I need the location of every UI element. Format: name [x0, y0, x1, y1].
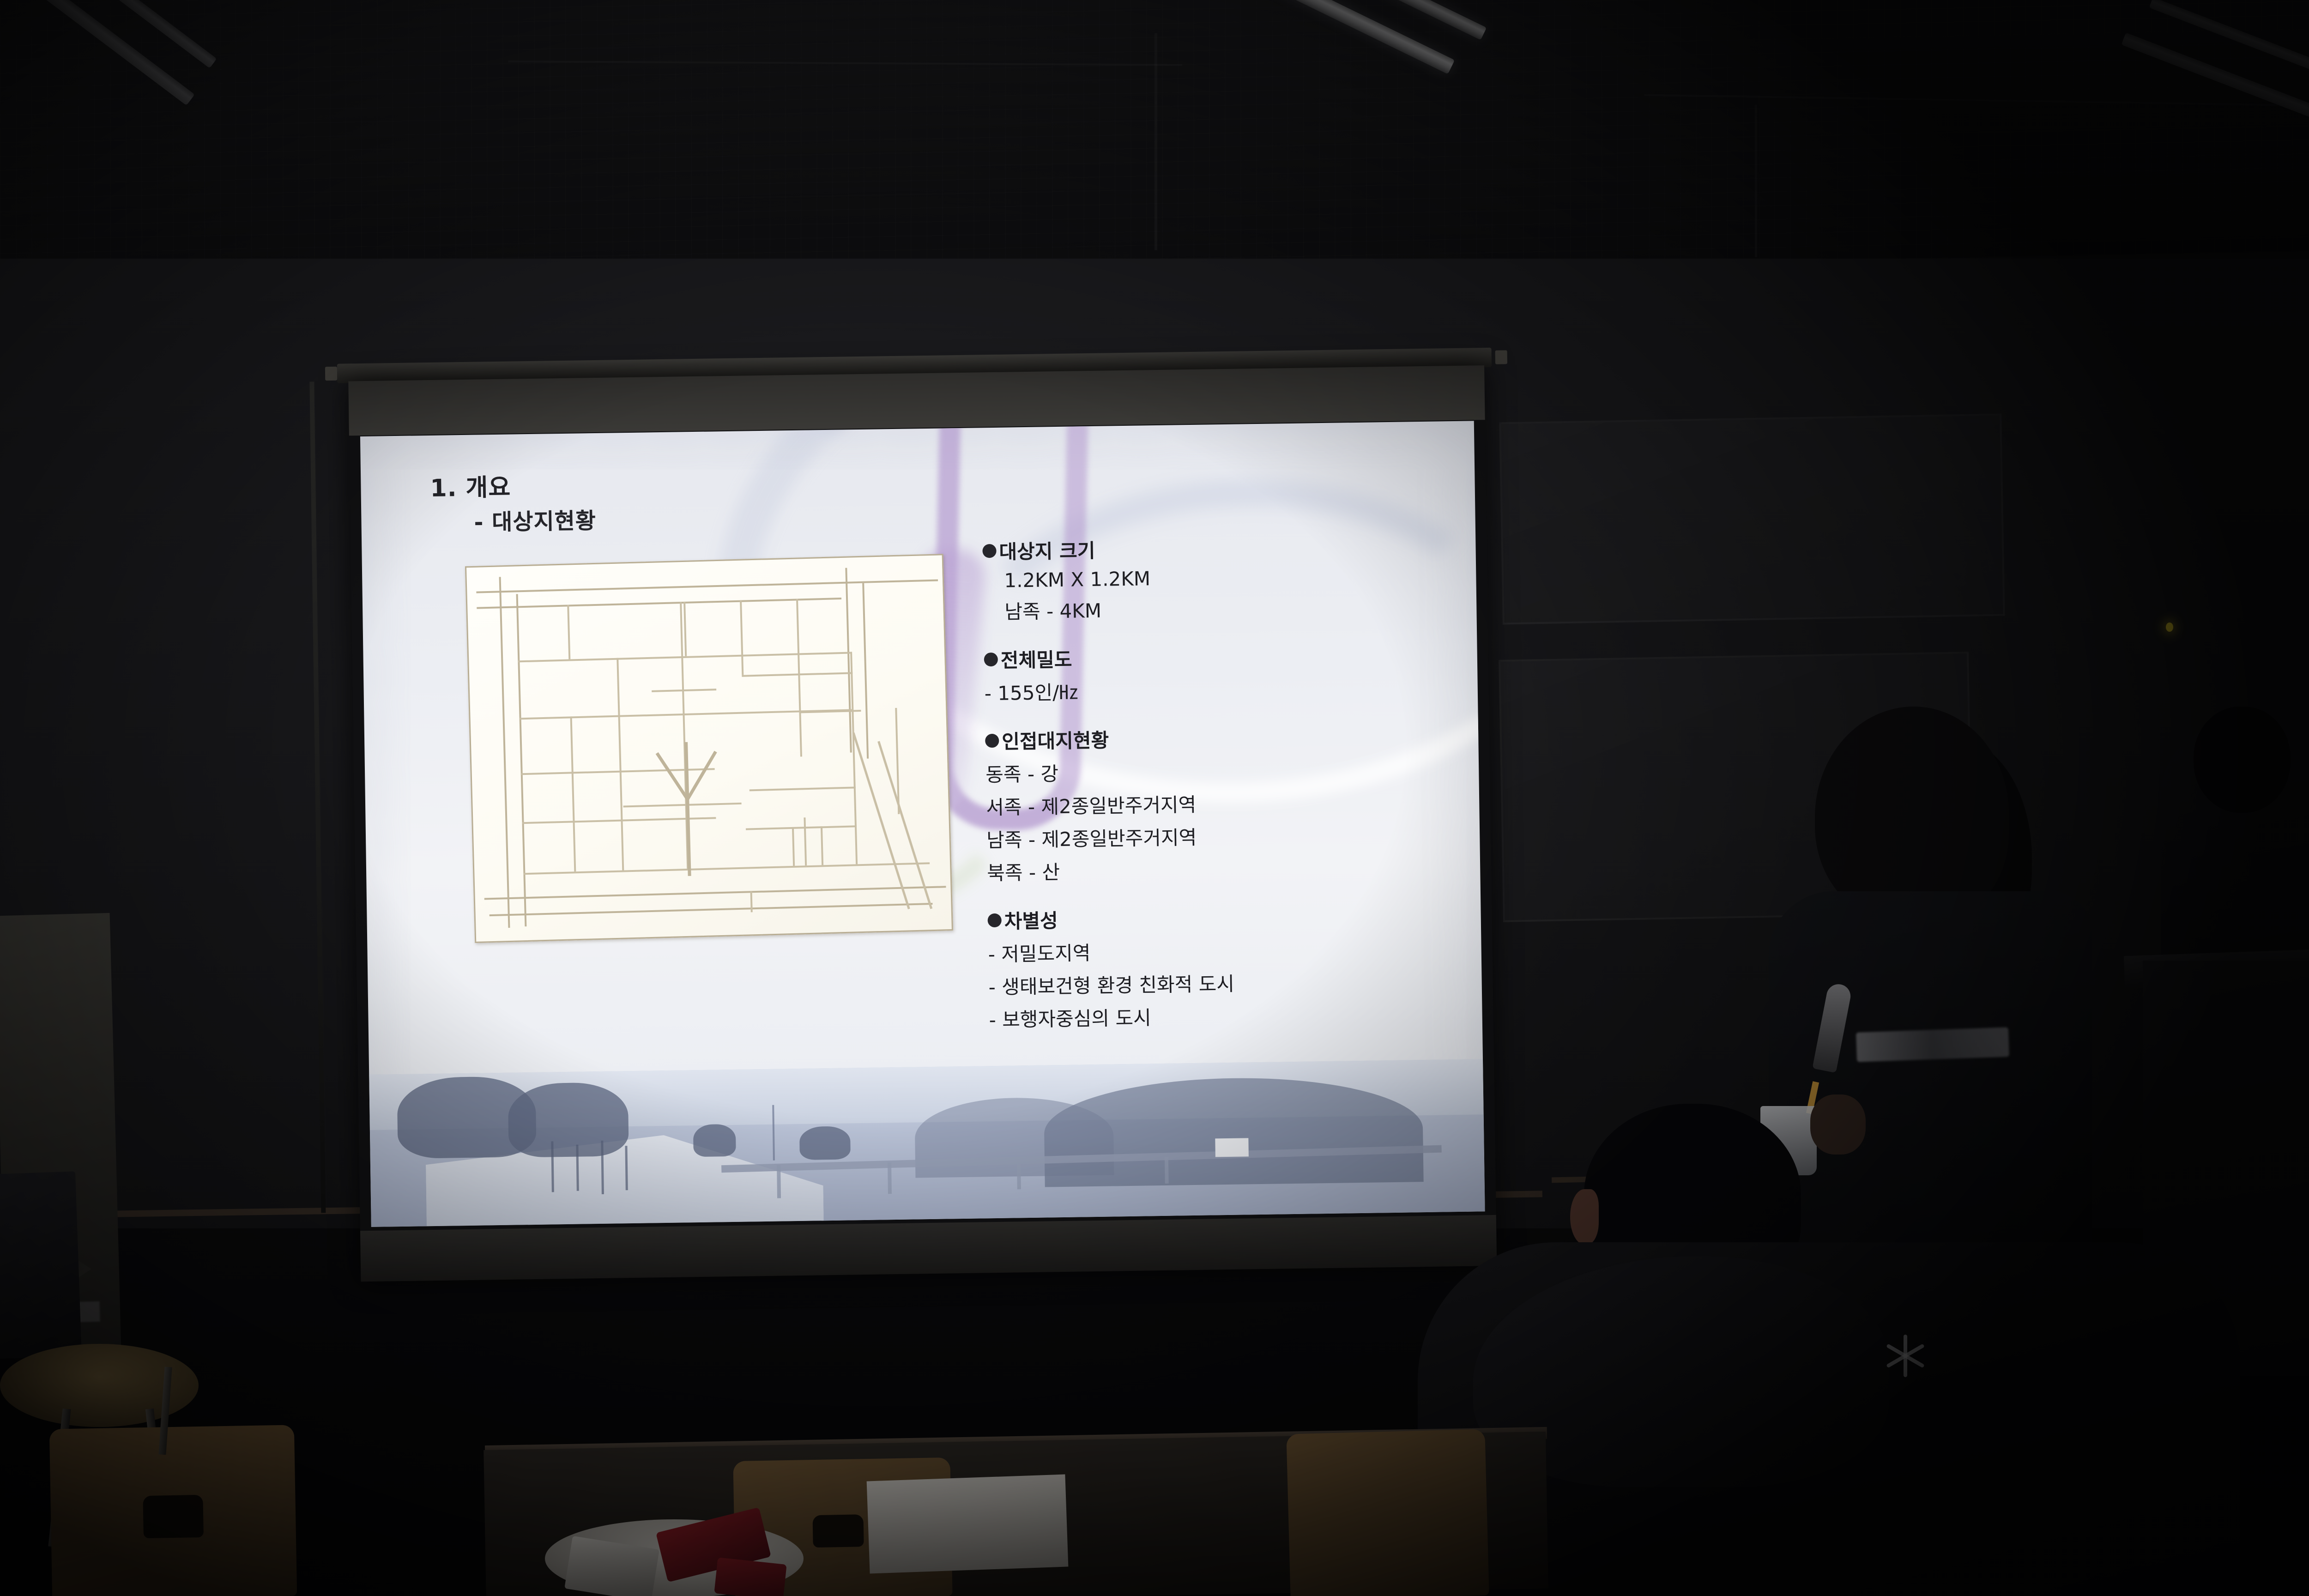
photo-tree-small	[799, 1126, 851, 1160]
snack-package-red-2	[714, 1557, 786, 1596]
bullet-dot-icon	[987, 913, 1001, 927]
chair-handle-cutout	[143, 1495, 204, 1538]
map-road	[750, 786, 856, 791]
site-plan-map	[465, 554, 953, 943]
lecture-room-photo: 1. 개요 - 대상지현황	[0, 0, 2309, 1596]
map-road	[499, 577, 510, 928]
snowflake-emblem-icon	[1884, 1335, 1927, 1377]
screen-roller-cap-left	[325, 367, 337, 381]
wall-indicator-led	[2166, 623, 2173, 632]
map-road	[523, 862, 930, 875]
map-road-diagonal	[852, 732, 910, 909]
bullet-dot-icon	[982, 544, 996, 557]
map-road	[477, 598, 841, 609]
ceiling-seam	[1154, 33, 1157, 250]
bullet-line: 남족 - 4KM	[983, 590, 1464, 625]
bullet-dot-icon	[984, 652, 998, 666]
map-road	[746, 825, 857, 830]
bullet-line: - 생태보건형 환경 친화적 도시	[988, 965, 1469, 1000]
screen-roller-cap-right	[1495, 350, 1507, 364]
map-road	[490, 903, 933, 916]
map-road	[804, 817, 807, 865]
bullet-line: 북족 - 산	[987, 851, 1468, 886]
photo-bridge-pier	[1017, 1160, 1021, 1189]
photo-bridge-pier	[1165, 1157, 1169, 1184]
presentation-slide: 1. 개요 - 대상지현황	[360, 421, 1485, 1227]
projection-screen-assembly: 1. 개요 - 대상지현황	[317, 347, 1540, 1315]
map-road	[796, 598, 802, 756]
bullet-head: 인접대지현황	[985, 720, 1466, 755]
bullet-line: - 저밀도지역	[988, 932, 1469, 967]
bullet-head: 대상지 크기	[982, 530, 1463, 565]
photo-tree	[508, 1082, 629, 1158]
far-person-head	[2194, 707, 2291, 813]
map-road	[740, 600, 743, 675]
projection-screen: 1. 개요 - 대상지현황	[348, 365, 1497, 1282]
bullet-dot-icon	[985, 733, 999, 747]
map-road	[476, 580, 938, 593]
bullet-line: 1.2KM X 1.2KM	[983, 563, 1463, 592]
map-road	[516, 594, 527, 926]
photo-bridge-pier	[777, 1165, 781, 1198]
bullet-head-label: 인접대지현황	[1002, 725, 1109, 755]
bullet-head-label: 대상지 크기	[999, 535, 1095, 565]
bullet-head: 차별성	[987, 900, 1468, 935]
map-road	[570, 716, 576, 871]
slide-title: 1. 개요	[430, 468, 511, 503]
map-road	[484, 886, 946, 900]
map-road	[862, 583, 869, 759]
bullet-line: - 보행자중심의 도시	[989, 998, 1469, 1033]
map-road-diagonal	[877, 741, 932, 909]
photo-tree-small	[693, 1124, 736, 1157]
ceiling-seam	[1755, 105, 1757, 257]
map-road-y-left	[686, 751, 717, 800]
map-road	[518, 652, 850, 663]
map-road	[683, 602, 687, 656]
bullet-line: 서족 - 제2종일반주거지역	[986, 786, 1467, 821]
presenter-shirt-lettering	[1856, 1027, 2009, 1062]
screen-bottom-bar	[360, 1215, 1497, 1282]
chair-left[interactable]	[49, 1425, 297, 1596]
photo-bridge-pier	[888, 1162, 892, 1194]
map-road	[821, 826, 823, 865]
map-road	[750, 891, 753, 912]
map-road	[742, 672, 852, 677]
ceiling	[0, 0, 2309, 296]
slide-bullet-column: 대상지 크기 1.2KM X 1.2KM 남족 - 4KM 전체밀도 - 155…	[982, 530, 1470, 1053]
bullet-group-size: 대상지 크기 1.2KM X 1.2KM 남족 - 4KM	[982, 530, 1464, 625]
bullet-line: 동족 - 강	[985, 753, 1466, 788]
map-road	[567, 605, 570, 659]
monitor	[0, 1171, 82, 1359]
slide-subtitle: - 대상지현황	[474, 502, 596, 537]
map-road	[850, 652, 858, 864]
bullet-group-density: 전체밀도 - 155인/㎐	[984, 639, 1465, 707]
bullet-group-distinction: 차별성 - 저밀도지역 - 생태보건형 환경 친화적 도시 - 보행자중심의 도…	[987, 900, 1469, 1033]
map-road	[792, 827, 795, 866]
bullet-head-label: 전체밀도	[1000, 644, 1072, 673]
audience-ear	[1570, 1189, 1599, 1245]
slide-photo-band	[369, 1059, 1485, 1227]
bullet-head-label: 차별성	[1004, 905, 1058, 934]
bullet-line: - 155인/㎐	[984, 671, 1465, 707]
wall-panel-right-upper	[1499, 414, 2005, 625]
map-road	[617, 658, 624, 871]
paper-sheet[interactable]	[867, 1475, 1069, 1574]
chair-right[interactable]	[1286, 1429, 1489, 1596]
bullet-head: 전체밀도	[984, 639, 1464, 674]
map-road	[623, 803, 742, 808]
bullet-group-adjacent: 인접대지현황 동족 - 강 서족 - 제2종일반주거지역 남족 - 제2종일반주…	[985, 720, 1468, 886]
map-road	[520, 709, 852, 719]
photo-truck	[1215, 1138, 1249, 1157]
bullet-line: 남족 - 제2종일반주거지역	[986, 818, 1467, 853]
chair-handle-cutout	[812, 1514, 864, 1548]
